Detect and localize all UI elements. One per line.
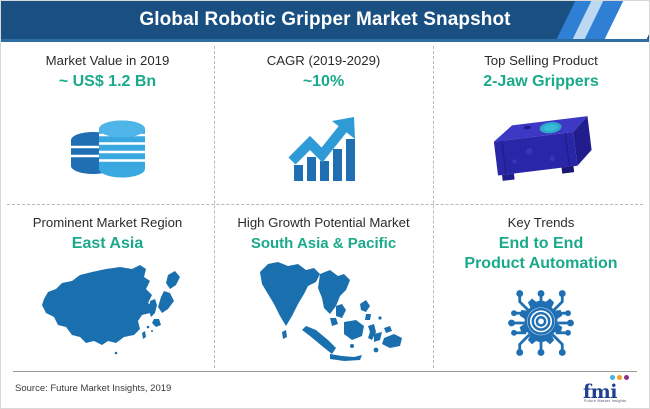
cell-high-growth-potential-market: High Growth Potential Market South Asia … [214, 204, 433, 372]
cell-market-value: Market Value in 2019 ~ US$ 1.2 Bn [1, 42, 214, 204]
footer: Source: Future Market Insights, 2019 fmi… [1, 371, 649, 408]
cell-label-market-value: Market Value in 2019 [46, 52, 170, 69]
south-asia-pacific-map-icon [244, 260, 404, 366]
icon-wrap-key-trends [433, 274, 649, 372]
source-text: Source: Future Market Insights, 2019 [15, 383, 171, 394]
footer-divider [13, 371, 637, 372]
cell-prominent-market-region: Prominent Market Region East Asia [1, 204, 214, 372]
growth-chart-arrow-icon [284, 109, 364, 187]
automation-gear-network-icon [504, 287, 578, 359]
cell-value-key-trends-line1: End to End [499, 234, 583, 254]
cell-value-key-trends-line2: Product Automation [464, 254, 617, 274]
cell-value-top-selling-product: 2-Jaw Grippers [483, 72, 599, 91]
icon-wrap-prominent-market-region [1, 253, 214, 372]
fmi-logo-tagline: Future Market Insights [584, 399, 626, 403]
cell-label-prominent-market-region: Prominent Market Region [33, 214, 183, 231]
fmi-logo-dot-blue [610, 375, 615, 380]
icon-wrap-top-selling-product [433, 91, 649, 204]
icon-wrap-cagr [214, 91, 433, 204]
cell-value-cagr: ~10% [303, 72, 344, 91]
cell-value-market-value: ~ US$ 1.2 Bn [59, 72, 156, 91]
icon-wrap-market-value [1, 91, 214, 204]
fmi-logo: fmi Future Market Insights [581, 374, 637, 405]
fmi-logo-dot-orange [617, 375, 622, 380]
cell-label-cagr: CAGR (2019-2029) [267, 52, 381, 69]
cell-label-key-trends: Key Trends [508, 214, 575, 231]
cell-value-high-growth-potential-market: South Asia & Pacific [251, 234, 396, 253]
icon-wrap-high-growth-potential-market [214, 253, 433, 372]
cell-key-trends: Key Trends End to End Product Automation [433, 204, 649, 372]
header-band: Global Robotic Gripper Market Snapshot [1, 1, 649, 39]
page-title: Global Robotic Gripper Market Snapshot [1, 1, 649, 39]
cell-label-high-growth-potential-market: High Growth Potential Market [237, 214, 409, 231]
east-asia-map-icon [28, 261, 188, 365]
snapshot-grid: Market Value in 2019 ~ US$ 1.2 Bn [1, 42, 649, 372]
fmi-logo-dot-purple [624, 375, 629, 380]
infographic-root: Global Robotic Gripper Market Snapshot M… [0, 0, 650, 409]
cell-value-prominent-market-region: East Asia [72, 234, 143, 253]
header-underline [1, 39, 649, 42]
cell-cagr: CAGR (2019-2029) ~10% [214, 42, 433, 204]
cell-top-selling-product: Top Selling Product 2-Jaw Grippers [433, 42, 649, 204]
robotic-gripper-product-icon [479, 110, 603, 186]
cell-label-top-selling-product: Top Selling Product [484, 52, 598, 69]
stacked-coins-icon [69, 111, 147, 185]
